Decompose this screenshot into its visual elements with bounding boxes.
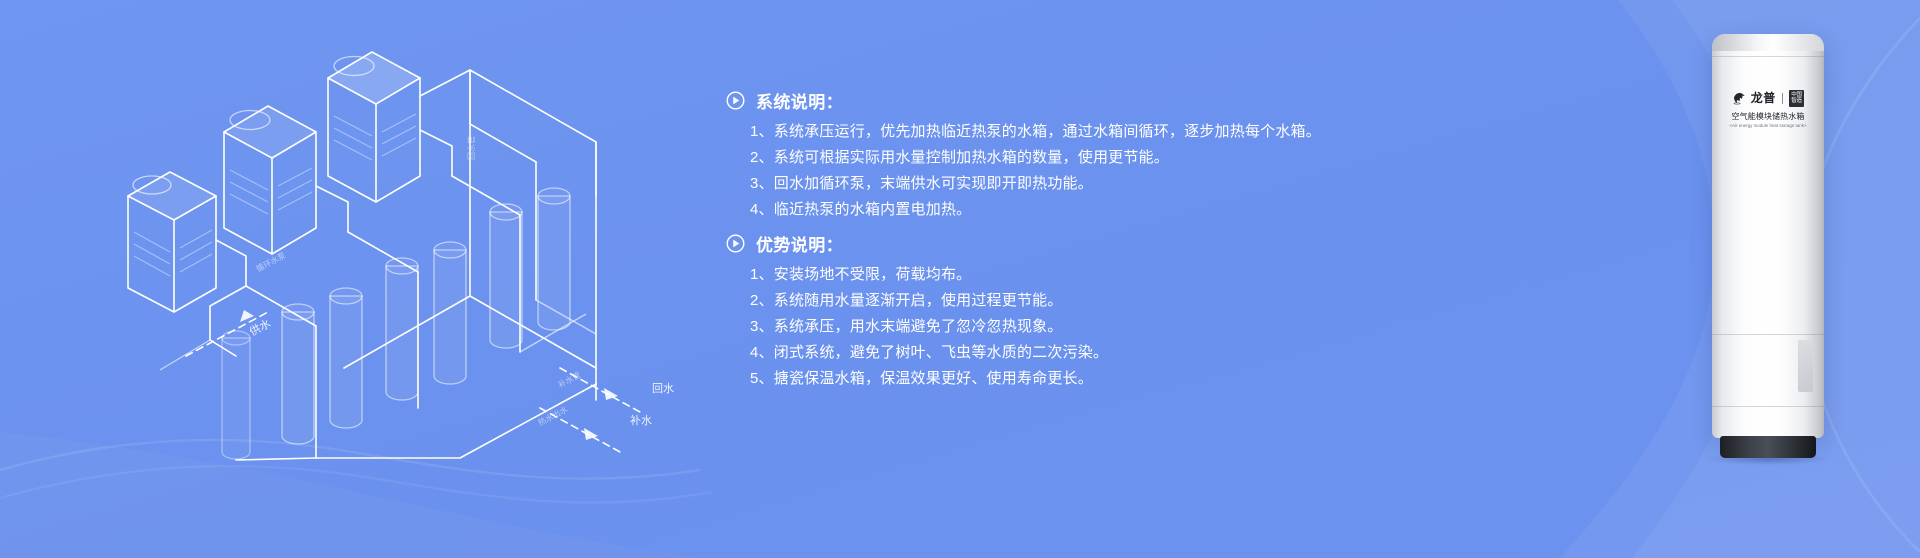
tank-seam xyxy=(1712,406,1824,407)
heat-pump-unit-3 xyxy=(328,52,420,202)
water-storage-tank xyxy=(282,304,314,444)
section-header: 系统说明： xyxy=(726,88,1346,113)
tank-base xyxy=(1720,436,1816,458)
heat-pump-connection-pipes xyxy=(216,70,470,286)
eagle-logo-icon xyxy=(1732,91,1747,105)
play-circle-icon xyxy=(726,234,745,253)
heat-pump-unit-2 xyxy=(224,106,316,254)
product-name-cn: 空气能模块储热水箱 xyxy=(1718,112,1818,122)
list-item-text: 系统可根据实际用水量控制加热水箱的数量，使用更节能。 xyxy=(774,150,1169,165)
section-advantage-description: 优势说明： 1、 安装场地不受限，荷载均布。 2、 系统随用水量逐渐开启，使用过… xyxy=(726,231,1346,386)
list-item: 3、 回水加循环泵，末端供水可实现即开即热功能。 xyxy=(726,176,1346,191)
product-photo: 龙普 中国 智造 空气能模块储热水箱 <Air energy module he… xyxy=(1704,34,1832,458)
water-tank-body: 龙普 中国 智造 空气能模块储热水箱 <Air energy module he… xyxy=(1712,34,1824,438)
label-return-water: 回水 xyxy=(652,382,674,395)
tank-top-cap xyxy=(1712,34,1824,51)
list-item-text: 系统随用水量逐渐开启，使用过程更节能。 xyxy=(774,293,1063,308)
brand-badge: 中国 智造 xyxy=(1789,90,1805,107)
list-item-number: 4、 xyxy=(750,202,774,217)
list-item-number: 4、 xyxy=(750,345,774,360)
water-storage-tank xyxy=(330,288,362,428)
tank-control-panel xyxy=(1798,340,1813,392)
water-storage-tank xyxy=(490,204,522,348)
list-item: 2、 系统可根据实际用水量控制加热水箱的数量，使用更节能。 xyxy=(726,150,1346,165)
section-header: 优势说明： xyxy=(726,231,1346,256)
advantage-description-list: 1、 安装场地不受限，荷载均布。 2、 系统随用水量逐渐开启，使用过程更节能。 … xyxy=(726,267,1346,386)
list-item-text: 系统承压，用水末端避免了忽冷忽热现象。 xyxy=(774,319,1063,334)
water-storage-tank-group xyxy=(222,188,570,459)
list-item: 4、 临近热泵的水箱内置电加热。 xyxy=(726,202,1346,217)
play-circle-icon xyxy=(726,91,745,110)
list-item-text: 闭式系统，避免了树叶、飞虫等水质的二次污染。 xyxy=(774,345,1108,360)
system-description-list: 1、 系统承压运行，优先加热临近热泵的水箱，通过水箱间循环，逐步加热每个水箱。 … xyxy=(726,124,1346,217)
list-item: 3、 系统承压，用水末端避免了忽冷忽热现象。 xyxy=(726,319,1346,334)
brand-divider xyxy=(1782,93,1783,104)
section-title: 优势说明： xyxy=(756,231,843,256)
list-item-text: 安装场地不受限，荷载均布。 xyxy=(774,267,972,282)
list-item: 4、 闭式系统，避免了树叶、飞虫等水质的二次污染。 xyxy=(726,345,1346,360)
brand-badge-line1: 中国 xyxy=(1791,92,1802,98)
list-item: 2、 系统随用水量逐渐开启，使用过程更节能。 xyxy=(726,293,1346,308)
water-storage-tank xyxy=(538,188,570,330)
brand-name: 龙普 xyxy=(1751,92,1776,104)
description-panel: 系统说明： 1、 系统承压运行，优先加热临近热泵的水箱，通过水箱间循环，逐步加热… xyxy=(726,88,1346,392)
list-item-text: 临近热泵的水箱内置电加热。 xyxy=(774,202,972,217)
label-make-up-water: 补水 xyxy=(630,414,652,427)
list-item-number: 1、 xyxy=(750,124,774,139)
section-title: 系统说明： xyxy=(756,88,843,113)
list-item-text: 系统承压运行，优先加热临近热泵的水箱，通过水箱间循环，逐步加热每个水箱。 xyxy=(774,124,1321,139)
list-item: 5、 搪瓷保温水箱，保温效果更好、使用寿命更长。 xyxy=(726,371,1346,386)
tank-brand-label: 龙普 中国 智造 空气能模块储热水箱 <Air energy module he… xyxy=(1712,90,1824,129)
promo-banner: 供水 回水 补水 循环水泵 回水管 补水管 热水出水 系统说明： xyxy=(0,0,1920,558)
heat-pump-unit-1 xyxy=(128,172,216,312)
label-faint-2: 回水管 xyxy=(466,136,476,160)
list-item-number: 2、 xyxy=(750,293,774,308)
water-storage-tank xyxy=(434,242,466,384)
list-item-number: 3、 xyxy=(750,176,774,191)
system-schematic-diagram: 供水 回水 补水 循环水泵 回水管 补水管 热水出水 xyxy=(0,0,740,558)
tank-seam xyxy=(1712,56,1824,57)
water-storage-tank xyxy=(386,258,418,400)
section-system-description: 系统说明： 1、 系统承压运行，优先加热临近热泵的水箱，通过水箱间循环，逐步加热… xyxy=(726,88,1346,217)
brand-row: 龙普 中国 智造 xyxy=(1718,90,1818,107)
label-faint-3: 补水管 xyxy=(556,370,582,390)
list-item: 1、 系统承压运行，优先加热临近热泵的水箱，通过水箱间循环，逐步加热每个水箱。 xyxy=(726,124,1346,139)
label-supply-water: 供水 xyxy=(247,316,273,339)
product-name-en: <Air energy module heat storage tank> xyxy=(1721,123,1816,128)
list-item: 1、 安装场地不受限，荷载均布。 xyxy=(726,267,1346,282)
list-item-number: 2、 xyxy=(750,150,774,165)
brand-badge-line2: 智造 xyxy=(1791,98,1802,104)
list-item-number: 5、 xyxy=(750,371,774,386)
list-item-text: 搪瓷保温水箱，保温效果更好、使用寿命更长。 xyxy=(774,371,1093,386)
tank-seam xyxy=(1712,334,1824,335)
list-item-number: 3、 xyxy=(750,319,774,334)
list-item-number: 1、 xyxy=(750,267,774,282)
list-item-text: 回水加循环泵，末端供水可实现即开即热功能。 xyxy=(774,176,1093,191)
